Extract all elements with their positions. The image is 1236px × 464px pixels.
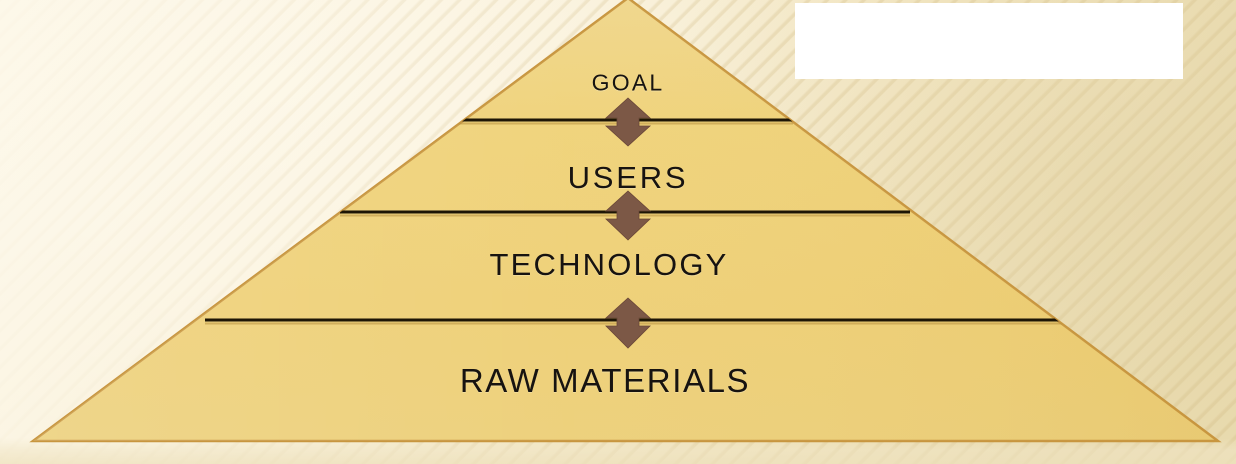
pyramid-level-label-raw-materials: RAW MATERIALS (460, 362, 750, 400)
slide-canvas: GOAL USERS TECHNOLOGY RAW MATERIALS (0, 0, 1236, 464)
pyramid-level-label-technology: TECHNOLOGY (489, 247, 728, 283)
pyramid-level-label-users: USERS (568, 160, 689, 196)
pyramid-level-label-goal: GOAL (592, 70, 665, 97)
empty-white-placeholder-box[interactable] (795, 3, 1183, 79)
